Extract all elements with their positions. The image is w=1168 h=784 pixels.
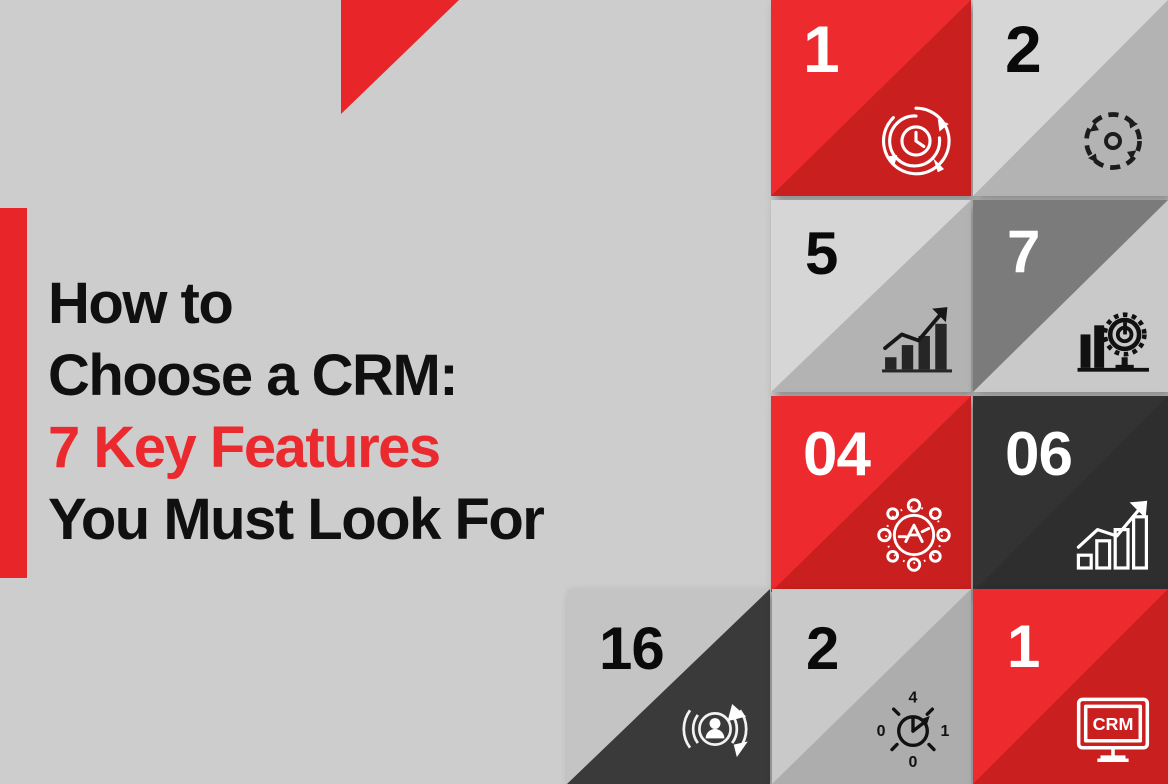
growth-bar-chart-icon (1072, 496, 1152, 576)
title-line-4: You Must Look For (48, 484, 688, 556)
tile-number: 2 (806, 619, 838, 679)
tile-number: 06 (1005, 424, 1072, 486)
tile-2[interactable]: 2 (973, 0, 1168, 196)
clock-gauge-icon: 4 1 0 0 (871, 684, 955, 768)
network-nodes-icon (873, 494, 955, 576)
tile-04[interactable]: 04 (771, 396, 971, 592)
tile-1b[interactable]: 1 CRM (973, 589, 1168, 784)
title-line-1: How to (48, 268, 688, 340)
gear-analytics-icon (1076, 301, 1152, 377)
tile-number: 1 (803, 16, 839, 82)
gauge-digit-left: 0 (877, 723, 886, 740)
page-title: How to Choose a CRM: 7 Key Features You … (48, 268, 688, 556)
tile-number: 2 (1005, 16, 1041, 82)
poster-canvas: How to Choose a CRM: 7 Key Features You … (0, 0, 1168, 784)
gauge-digit-bottom: 0 (909, 755, 918, 769)
clock-cycle-icon (877, 102, 955, 180)
crm-monitor-label: CRM (1093, 714, 1134, 734)
crm-monitor-icon: CRM (1074, 690, 1152, 768)
tile-number: 5 (805, 224, 837, 284)
tile-number: 04 (803, 424, 870, 486)
tile-5[interactable]: 5 (771, 200, 971, 392)
tile-7[interactable]: 7 (973, 200, 1168, 392)
tile-06[interactable]: 06 (973, 396, 1168, 592)
tile-number: 7 (1007, 222, 1039, 282)
title-line-2: Choose a CRM: (48, 340, 688, 412)
tile-2b[interactable]: 2 4 1 0 0 (772, 589, 971, 784)
gauge-digit-right: 1 (941, 723, 950, 740)
tile-16[interactable]: 16 (567, 589, 770, 784)
circular-arrows-icon (1074, 102, 1152, 180)
left-red-bar (0, 208, 27, 578)
top-red-triangle-icon (341, 0, 459, 114)
title-line-3-accent: 7 Key Features (48, 412, 688, 484)
tile-number: 16 (599, 619, 664, 679)
gauge-digit-top: 4 (909, 690, 918, 707)
growth-bar-chart-icon (879, 301, 955, 377)
user-target-icon (676, 690, 754, 768)
tile-number: 1 (1007, 617, 1039, 677)
tile-1[interactable]: 1 (771, 0, 971, 196)
